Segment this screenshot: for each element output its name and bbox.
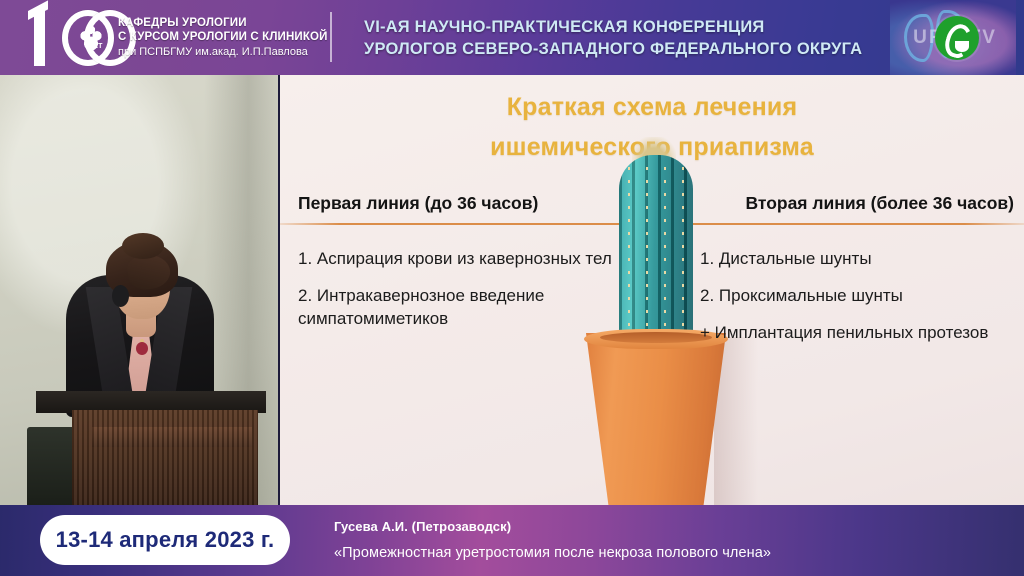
pot-rim-inner [600,332,712,343]
list-item: + Имплантация пенильных протезов [700,321,1018,344]
list-item: 2. Интракавернозное введение симпатомиме… [298,284,616,330]
cactus-spine-row-1 [628,167,630,347]
podium-body [72,410,258,505]
conference-header-bar: ЛЕТ КАФЕДРЫ УРОЛОГИИ С КУРСОМ УРОЛОГИИ С… [0,0,1024,75]
podium-panel [92,427,252,447]
emblem-years-label: ЛЕТ [88,43,103,50]
speaker-necklace [136,342,148,355]
cactus-spine-row-4 [682,167,684,347]
uro-tv-logo: URO TV [890,0,1016,75]
list-item: 1. Аспирация крови из кавернозных тел [298,247,616,270]
list-item: 2. Проксимальные шунты [700,284,1018,307]
speaker-hair-bun [122,233,164,259]
conference-title-line-2: УРОЛОГОВ СЕВЕРО-ЗАПАДНОГО ФЕДЕРАЛЬНОГО О… [364,38,894,60]
list-item: 1. Дистальные шунты [700,247,1018,270]
live-speaker-video[interactable] [0,75,278,505]
talk-title-label: «Промежностная уретростомия после некроз… [334,545,771,561]
conference-date-text: 13-14 апреля 2023 г. [56,527,275,553]
speaker-name-label: Гусева А.И. (Петрозаводск) [334,519,511,534]
presentation-slide[interactable]: Краткая схема лечения ишемического приап… [280,75,1024,505]
terracotta-pot [586,333,726,505]
webinar-stage: ЛЕТ КАФЕДРЫ УРОЛОГИИ С КУРСОМ УРОЛОГИИ С… [0,0,1024,576]
header-divider [330,12,332,62]
conference-title-line-1: VI-АЯ НАУЧНО-ПРАКТИЧЕСКАЯ КОНФЕРЕНЦИЯ [364,16,894,38]
cactus-spine-row-3 [664,167,666,347]
department-line-3: при ПСПБГМУ им.акад. И.П.Павлова [118,45,318,60]
uro-tv-leaf-badge-icon [935,16,979,60]
department-line-1: КАФЕДРЫ УРОЛОГИИ [118,16,318,30]
second-line-treatment-list: 1. Дистальные шунты 2. Проксимальные шун… [700,247,1018,358]
conference-title-block: VI-АЯ НАУЧНО-ПРАКТИЧЕСКАЯ КОНФЕРЕНЦИЯ УР… [364,16,894,60]
confidence-monitor [27,427,77,505]
first-line-treatment-list: 1. Аспирация крови из кавернозных тел 2.… [298,247,616,344]
centennial-emblem-icon: ЛЕТ [26,8,130,68]
department-name-block: КАФЕДРЫ УРОЛОГИИ С КУРСОМ УРОЛОГИИ С КЛИ… [118,16,318,60]
microphone-head [112,285,129,307]
conference-date-badge: 13-14 апреля 2023 г. [40,515,290,565]
emblem-digit-one [34,10,45,66]
conference-footer-bar: 13-14 апреля 2023 г. Гусева А.И. (Петроз… [0,505,1024,576]
department-line-2: С КУРСОМ УРОЛОГИИ С КЛИНИКОЙ [118,30,318,44]
cactus-spine-row-2 [646,167,648,347]
